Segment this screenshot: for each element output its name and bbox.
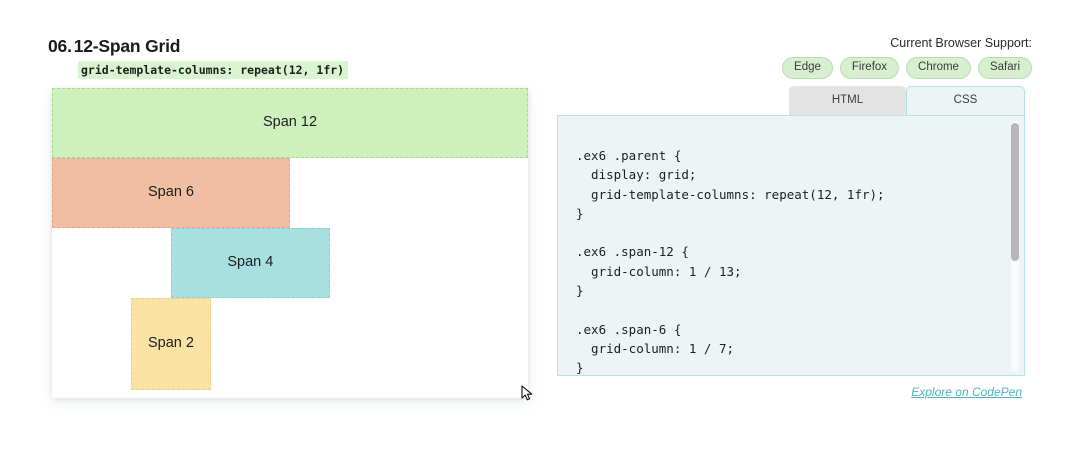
- browser-pill-edge: Edge: [782, 57, 833, 79]
- page-title-number: 06.: [48, 36, 72, 56]
- browser-pill-safari: Safari: [978, 57, 1032, 79]
- browser-support-label: Current Browser Support:: [782, 36, 1032, 51]
- tab-html[interactable]: HTML: [789, 86, 906, 115]
- code-scrollbar[interactable]: [1011, 121, 1019, 372]
- grid-item-span-6: Span 6: [52, 158, 290, 228]
- code-scrollbar-thumb[interactable]: [1011, 123, 1019, 261]
- browser-support: Current Browser Support: Edge Firefox Ch…: [782, 36, 1032, 79]
- grid-template-code-chip: grid-template-columns: repeat(12, 1fr): [78, 61, 348, 79]
- codepen-link-container: Explore on CodePen: [557, 383, 1025, 401]
- grid-demo-container: Span 12 Span 6 Span 4 Span 2: [52, 88, 528, 368]
- explore-on-codepen-link[interactable]: Explore on CodePen: [911, 385, 1022, 399]
- page-title: 06.12-Span Grid: [48, 36, 348, 58]
- grid-item-span-12: Span 12: [52, 88, 528, 158]
- page-header: 06.12-Span Grid grid-template-columns: r…: [0, 0, 1078, 86]
- grid-item-span-2: Span 2: [131, 298, 210, 390]
- grid-item-span-4: Span 4: [171, 228, 330, 298]
- code-panel-section: HTML CSS .ex6 .parent { display: grid; g…: [557, 86, 1025, 401]
- code-panel-tabs: HTML CSS: [789, 86, 1025, 115]
- tab-css[interactable]: CSS: [906, 86, 1025, 115]
- browser-pill-chrome: Chrome: [906, 57, 971, 79]
- browser-pill-firefox: Firefox: [840, 57, 899, 79]
- grid-demo-panel[interactable]: Span 12 Span 6 Span 4 Span 2: [52, 88, 528, 398]
- page-title-text: 12-Span Grid: [74, 36, 181, 56]
- browser-support-pills: Edge Firefox Chrome Safari: [782, 57, 1032, 79]
- title-block: 06.12-Span Grid grid-template-columns: r…: [48, 36, 348, 79]
- css-source-code: .ex6 .parent { display: grid; grid-templ…: [558, 116, 1024, 376]
- code-viewer[interactable]: .ex6 .parent { display: grid; grid-templ…: [557, 115, 1025, 376]
